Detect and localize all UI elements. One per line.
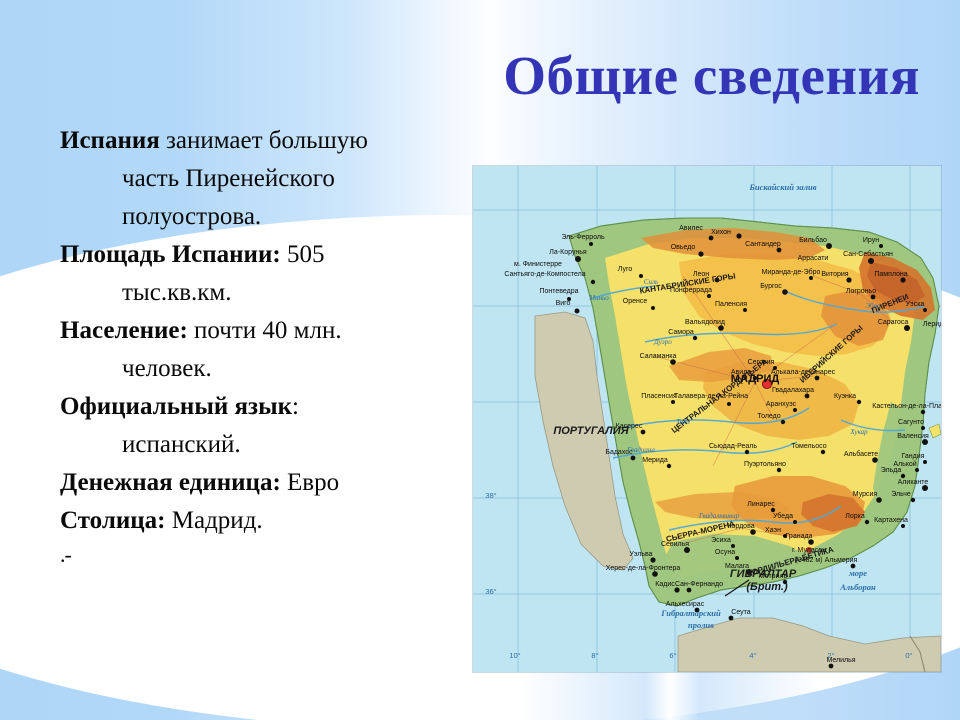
map-city-label: Авилес [679,225,703,232]
fact-label: Столица: [60,507,166,534]
map-river-label: Силь [644,278,658,286]
fact-value: занимает большую [160,127,368,154]
fact-cont: полуострова. [60,198,440,236]
map-city-label: Мурсия [853,491,878,498]
map-city-label: Кордова [727,523,754,530]
fact-cont: тыс.кв.км. [60,274,440,312]
map-city-label: Сан-Себастьян [843,250,893,258]
map-city-label: Сагунто [898,419,924,426]
map-river-label: Гвадиана [626,446,655,454]
map-city-label: м. Финистерре [514,261,562,268]
map-water-label: Бискайский залив [748,182,816,192]
map-city-label: Паленсия [715,301,747,308]
map-city-label: г. Муласен [792,547,826,554]
map-city-label: Аррасати [798,255,829,262]
map-city-label: Самора [668,329,694,336]
map-city-label: Сарагоса [878,319,909,326]
map-city-label: Сан-Фернандо [675,581,723,588]
map-city-label: Альмерия [825,557,858,564]
map-city-label: Уэска [906,301,925,308]
presentation-slide: Общие сведения Испания занимает большую … [0,0,960,720]
map-city-label: Томельосо [791,443,826,450]
page-title: Общие сведения [0,45,920,107]
map-water-label: Альборан [839,582,876,592]
map-water-label: пролив [688,620,714,630]
fact-line: Столица: Мадрид. [60,502,440,540]
map-city-label: Ла-Корунья [549,249,587,256]
map-city-label: Памплона [874,271,907,278]
map-city-label: Понферрада [670,287,712,294]
map-river-label: Эбро [865,302,881,310]
map-river-label: Хукар [849,428,868,436]
map-city-label: Куэнка [834,393,856,400]
map-city-label: Миранда-де-Эбро [762,268,821,276]
map-city-label: Лорка [845,513,865,520]
fact-value: Евро [281,469,339,496]
map-city-label: Саламанка [640,353,677,360]
map-city-label: Малага [725,563,749,570]
map-city-label: Алькала-де-Энарес [771,369,836,376]
map-city-label: Валенсия [897,433,929,440]
map-city-label: Севилья [661,541,689,548]
fact-value: Мадрид. [166,507,263,534]
fact-cont: человек. [60,350,440,388]
map-city-label: Пуэртольяно [744,461,786,468]
fact-label: Площадь Испании: [60,241,281,268]
map-city-label: Леон [693,271,709,278]
map-city-label: Луго [618,266,633,273]
map-city-label: Талавера-де-ла-Рейна [674,392,748,400]
fact-label: Официальный язык [60,393,292,420]
fact-value: : [292,393,299,420]
map-city-label: Кадис [655,581,675,588]
map-city-label: Логроньо [846,288,876,295]
map-city-label: Мотриль [759,573,788,580]
map-city-label: Линарес [747,501,775,508]
map-city-label: Сеута [731,609,750,616]
map-city-label: Толедо [757,413,780,420]
map-city-label: Пласенсия [641,393,677,400]
fact-cont: часть Пиренейского [60,160,440,198]
map-city-label: Сьюдад-Реаль [709,443,757,450]
map-longitude-label: 2° [827,651,834,660]
fact-line: Население: почти 40 млн. человек. [60,312,440,388]
fact-line: Площадь Испании: 505 тыс.кв.км. [60,236,440,312]
fact-label: Испания [60,127,160,154]
fact-value: 505 [281,241,325,268]
fact-line: Официальный язык: испанский. [60,388,440,464]
map-water-label: море [848,568,867,578]
fact-label: Денежная единица: [60,469,281,496]
map-latitude-label: 38° [485,491,496,500]
map-city-label: Эльче [891,491,911,498]
map-river-label: Миньо [588,294,609,302]
map-city-label: Овьедо [671,244,696,251]
map-city-label: Аликанте [898,479,929,486]
fact-line: Денежная единица: Евро [60,464,440,502]
fact-line: Испания занимает большую часть Пиренейск… [60,122,440,236]
map-city-label: Аранхуэс [766,401,797,408]
map-city-label: Гандия [902,453,925,460]
map-city-label: Сантьяго-де-Компостела [504,271,585,278]
map-city-label: Гранада [786,533,813,540]
map-city-label: Картахена [874,517,908,524]
map-longitude-label: 0° [905,651,912,660]
map-city-label: Хаэн [765,527,781,534]
map-latitude-label: 36° [485,587,496,596]
map-longitude-label: 8° [591,651,598,660]
fact-value: почти 40 млн. [188,317,342,344]
map-city-label: Хихон [711,229,731,236]
map-city-label: Убеда [773,512,793,520]
map-city-label: Вальядолид [685,319,725,326]
map-city-label: Виго [556,300,571,307]
fact-label: Население: [60,317,188,344]
physical-map-of-spain: Бискайский заливмореАльборанГибралтарски… [473,166,941,672]
map-river-label: Гвадалквивир [698,512,740,520]
map-city-label: Бильбао [799,236,827,244]
map-water-label: Гибралтарский [660,608,721,618]
map-city-label: Альхесирас [666,601,705,608]
map-city-label: Касерес [616,423,643,430]
map-city-label: Кастельон-де-ла-Плана [872,403,941,410]
map-city-label: Эльда [881,467,902,474]
map-city-label: Эль-Ферроль [561,234,605,241]
trailing-artifact: .- [60,540,440,570]
map-city-label: Уэльва [629,551,652,558]
fact-cont: испанский. [60,426,440,464]
map-city-label: Осуна [715,549,735,556]
map-city-label: (3482 м) [796,557,823,564]
map-city-label: Сеговия [748,359,775,366]
map-city-label: Херес-де-ла-Фронтера [606,565,681,572]
map-city-label: Лерида [923,321,941,328]
info-text-block: Испания занимает большую часть Пиренейск… [60,122,440,570]
map-city-label: Ирун [863,237,879,244]
map-river-label: Дуэро [653,338,672,346]
map-city-label: Бургос [760,283,782,290]
map-city-label: Понтеведра [539,288,578,295]
map-city-label: Сантандер [745,241,781,248]
map-city-label: Эсиха [711,537,731,544]
map-city-label: Альбасете [844,450,878,458]
map-city-label: Мерида [642,457,668,464]
map-city-label: Оренсе [623,298,648,305]
map-longitude-label: 4° [749,651,756,660]
map-city-label: Алькой [893,460,916,468]
map-city-label: Витория [821,271,848,278]
map-river-label: Тахо [676,418,690,426]
map-longitude-label: 6° [669,651,676,660]
map-city-label: Гвадалахара [772,387,814,394]
map-country-label: (Брит.) [746,581,788,593]
map-longitude-label: 10° [509,651,520,660]
